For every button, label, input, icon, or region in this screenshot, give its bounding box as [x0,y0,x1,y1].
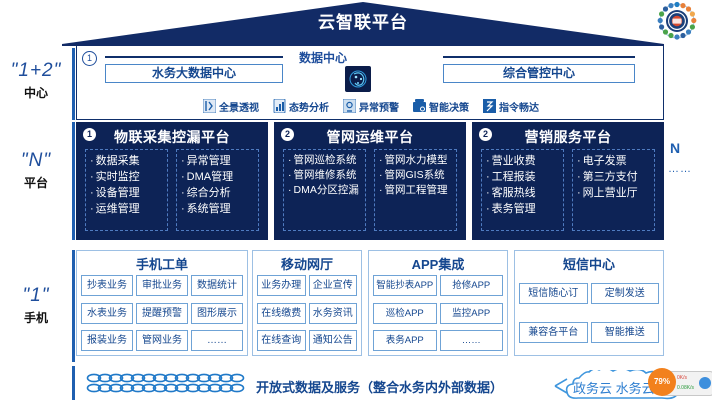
list-item[interactable]: 短信随心订 [519,283,588,304]
platform-2-col-2: 管网水力模型 管网GIS系统 管网工程管理 [374,149,457,231]
mobile-group-worksheet: 手机工单 抄表业务 审批业务 数据统计 水表业务 提醒预警 图形展示 报装业务 … [76,250,248,356]
list-item[interactable]: …… [191,330,243,351]
network-speed-widget[interactable]: 79% 0K/s 0.08K/s [659,371,712,396]
panorama-icon [203,99,216,113]
rail-phone-sub: 手机 [0,309,72,326]
list-item[interactable]: 审批业务 [136,275,188,296]
right-n-marker: N [670,140,680,156]
list-item[interactable]: 设备管理 [90,185,165,201]
list-item[interactable]: 工程报装 [486,169,561,185]
list-item[interactable]: 管网业务 [136,330,188,351]
list-item[interactable]: 客服热线 [486,185,561,201]
function-smart-decision-label: 智能决策 [429,99,469,114]
rail-rule-platform [72,122,75,240]
list-item[interactable]: 水务资讯 [309,303,358,324]
function-panorama-label: 全景透视 [219,99,259,114]
list-item[interactable]: 水表业务 [81,303,133,324]
platform-3-col-1: 营业收费 工程报装 客服热线 表务管理 [481,149,564,231]
list-item[interactable]: 数据采集 [90,153,165,169]
data-center-title: 数据中心 [299,49,347,66]
rail-platform-quote: "N" [0,150,72,172]
list-item[interactable]: 数据统计 [191,275,243,296]
list-item[interactable]: 实时监控 [90,169,165,185]
function-trend-analysis-label: 态势分析 [289,99,329,114]
rail-rule-center [72,48,75,120]
settings-ball-icon[interactable] [699,377,711,389]
list-item[interactable]: 智能推送 [591,322,660,343]
divider-right [443,56,635,58]
list-item[interactable]: 智能抄表APP [373,275,437,296]
platforms-section: 1 物联采集控漏平台 数据采集 实时监控 设备管理 运维管理 异常管理 DMA管… [76,122,664,240]
page-title: 云智联平台 [62,8,664,33]
rail-platform-sub: 平台 [0,174,72,191]
list-item[interactable]: 定制发送 [591,283,660,304]
divider-left [105,56,283,58]
list-item[interactable]: 第三方支付 [577,169,652,185]
chain-links-icon [86,373,252,400]
rail-label-phone: "1" 手机 [0,285,72,326]
cpu-percent-badge[interactable]: 79% [648,368,676,396]
list-item[interactable]: 图形展示 [191,303,243,324]
list-item[interactable]: 在线查询 [257,330,306,351]
function-alert-warning[interactable]: 异常预警 [343,99,399,114]
rail-center-sub: 中心 [0,84,72,101]
list-item[interactable]: 综合分析 [181,185,256,201]
platform-2-title: 管网运维平台 [275,127,465,147]
platform-3-col-2: 电子发票 第三方支付 网上营业厅 [572,149,655,231]
function-command-dispatch[interactable]: 指令畅达 [483,99,539,114]
list-item[interactable]: 表务管理 [486,201,561,217]
function-icon-row: 全景透视 态势分析 异常预警 智能决策 [77,96,665,116]
trend-analysis-icon [273,99,286,113]
mobile-group-2-title: 移动网厅 [253,254,361,273]
function-smart-decision[interactable]: 智能决策 [413,99,469,114]
mobile-group-sms: 短信中心 短信随心订 定制发送 兼容各平台 智能推送 [514,250,664,356]
list-item[interactable]: 异常管理 [181,153,256,169]
right-center-box[interactable]: 综合管控中心 [443,64,635,83]
list-item[interactable]: 监控APP [440,303,504,324]
command-dispatch-icon [483,99,496,113]
rail-label-center: "1+2" 中心 [0,60,72,101]
footer-section: 开放式数据及服务（整合水务内外部数据） 政务云 水务云建设 [76,368,712,405]
list-item[interactable]: 报装业务 [81,330,133,351]
list-item[interactable]: 巡检APP [373,303,437,324]
function-alert-warning-label: 异常预警 [359,99,399,114]
infographic-root: 云智联平台 "1+2" 中心 [0,0,712,405]
rail-phone-quote: "1" [0,285,72,307]
list-item[interactable]: 运维管理 [90,201,165,217]
left-center-box[interactable]: 水务大数据中心 [105,64,283,83]
list-item[interactable]: 管网水力模型 [379,153,454,168]
download-rate: 0.08K/s [677,383,694,393]
list-item[interactable]: 兼容各平台 [519,322,588,343]
function-command-dispatch-label: 指令畅达 [499,99,539,114]
list-item[interactable]: 抄表业务 [81,275,133,296]
roof-banner: 云智联平台 [62,0,664,46]
list-item[interactable]: 电子发票 [577,153,652,169]
function-panorama[interactable]: 全景透视 [203,99,259,114]
list-item[interactable]: 通知公告 [309,330,358,351]
list-item[interactable]: 业务办理 [257,275,306,296]
mobile-group-webhall: 移动网厅 业务办理 企业宣传 在线缴费 水务资讯 在线查询 通知公告 [252,250,362,356]
list-item[interactable]: 管网GIS系统 [379,168,454,183]
platform-card-pipeline[interactable]: 2 管网运维平台 管网巡检系统 管网维修系统 DMA分区控漏 管网水力模型 管网… [274,122,466,240]
right-ellipsis: …… [668,163,692,175]
list-item[interactable]: 营业收费 [486,153,561,169]
list-item[interactable]: …… [440,330,504,351]
mobile-group-3-title: APP集成 [369,254,507,273]
platform-2-col-1: 管网巡检系统 管网维修系统 DMA分区控漏 [283,149,366,231]
mobile-group-1-title: 手机工单 [77,254,247,273]
mobile-section: 手机工单 抄表业务 审批业务 数据统计 水表业务 提醒预警 图形展示 报装业务 … [76,250,664,362]
mobile-group-4-title: 短信中心 [515,254,663,273]
water-group-emblem-logo [655,1,699,41]
platform-1-col-1: 数据采集 实时监控 设备管理 运维管理 [85,149,168,231]
rail-rule-footer [72,366,75,400]
list-item[interactable]: DMA管理 [181,169,256,185]
list-item[interactable]: 网上营业厅 [577,185,652,201]
function-trend-analysis[interactable]: 态势分析 [273,99,329,114]
smart-decision-icon [413,99,426,113]
platform-3-title: 营销服务平台 [473,127,663,147]
list-item[interactable]: 在线缴费 [257,303,306,324]
data-center-section: 1 数据中心 水务大数据中心 综合管控中心 全景透视 [76,46,664,120]
ai-brain-icon [345,66,371,92]
list-item[interactable]: 管网工程管理 [379,183,454,198]
list-item[interactable]: 提醒预警 [136,303,188,324]
upload-rate: 0K/s [677,373,694,383]
rail-center-quote: "1+2" [0,60,72,82]
list-item[interactable]: 表务APP [373,330,437,351]
platform-card-iot[interactable]: 1 物联采集控漏平台 数据采集 实时监控 设备管理 运维管理 异常管理 DMA管… [76,122,268,240]
list-item[interactable]: DMA分区控漏 [288,183,363,198]
list-item[interactable]: 抢修APP [440,275,504,296]
list-item[interactable]: 系统管理 [181,201,256,217]
list-item[interactable]: 管网维修系统 [288,168,363,183]
rail-label-platform: "N" 平台 [0,150,72,191]
list-item[interactable]: 企业宣传 [309,275,358,296]
alert-warning-icon [343,99,356,113]
platform-card-marketing[interactable]: 2 营销服务平台 营业收费 工程报装 客服热线 表务管理 电子发票 第三方支付 … [472,122,664,240]
footer-text: 开放式数据及服务（整合水务内外部数据） [256,377,503,396]
list-item[interactable]: 管网巡检系统 [288,153,363,168]
platform-1-title: 物联采集控漏平台 [77,127,267,147]
mobile-group-app: APP集成 智能抄表APP 抢修APP 巡检APP 监控APP 表务APP …… [368,250,508,356]
rail-rule-phone [72,250,75,362]
platform-1-col-2: 异常管理 DMA管理 综合分析 系统管理 [176,149,259,231]
speed-rates: 0K/s 0.08K/s [677,373,694,393]
section-number-1: 1 [82,51,97,66]
